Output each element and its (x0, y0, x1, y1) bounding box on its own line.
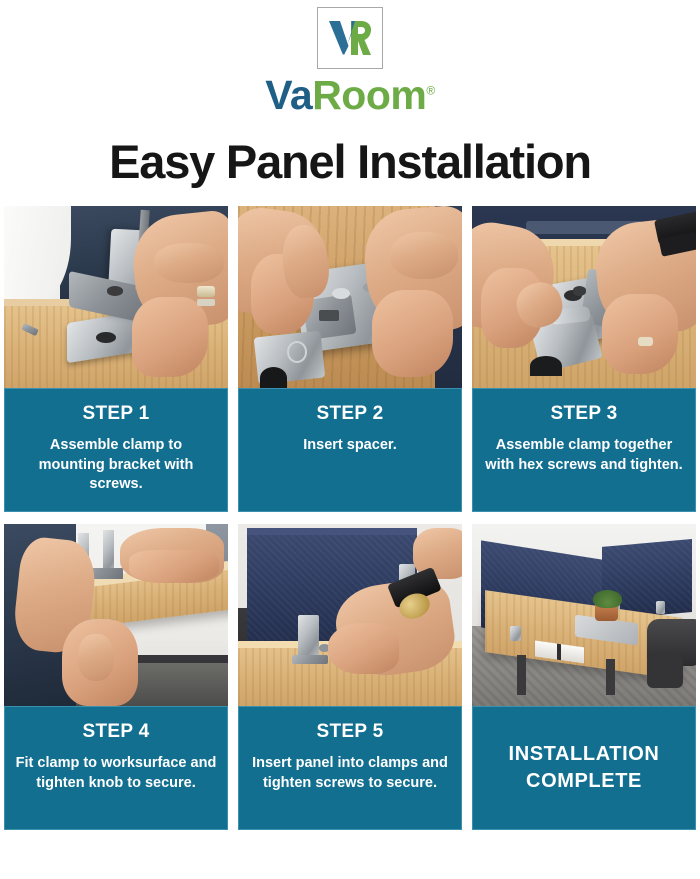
step-photo-1 (4, 206, 228, 388)
step-caption-2: STEP 2 Insert spacer. (238, 388, 462, 512)
vr-monogram-icon (317, 7, 383, 69)
step-cell-5: STEP 5 Insert panel into clamps and tigh… (238, 524, 462, 830)
wordmark-va: Va (265, 72, 312, 118)
brand-wordmark: VaRoom® (0, 75, 700, 116)
step-caption-1: STEP 1 Assemble clamp to mounting bracke… (4, 388, 228, 512)
step-header-3: STEP 3 (483, 403, 685, 425)
wordmark-room: Room (312, 72, 426, 118)
page-title: Easy Panel Installation (0, 137, 700, 186)
step-cell-4: STEP 4 Fit clamp to worksurface and tigh… (4, 524, 228, 830)
step-cell-1: STEP 1 Assemble clamp to mounting bracke… (4, 206, 228, 512)
step-cell-2: STEP 2 Insert spacer. (238, 206, 462, 512)
installation-complete-caption: INSTALLATION COMPLETE (472, 706, 696, 830)
step-caption-4: STEP 4 Fit clamp to worksurface and tigh… (4, 706, 228, 830)
registered-mark-icon: ® (426, 83, 434, 97)
step-caption-3: STEP 3 Assemble clamp together with hex … (472, 388, 696, 512)
step-caption-5: STEP 5 Insert panel into clamps and tigh… (238, 706, 462, 830)
step-photo-4 (4, 524, 228, 706)
step-cell-3: STEP 3 Assemble clamp together with hex … (472, 206, 696, 512)
step-photo-3 (472, 206, 696, 388)
installation-complete-text: INSTALLATION COMPLETE (483, 741, 685, 795)
brand-header: VaRoom® (0, 0, 700, 116)
infographic-page: VaRoom® .wordmark > span:first-child{col… (0, 0, 700, 879)
step-header-4: STEP 4 (15, 721, 217, 743)
step-cell-6: INSTALLATION COMPLETE (472, 524, 696, 830)
step-header-1: STEP 1 (15, 403, 217, 425)
step-photo-5 (238, 524, 462, 706)
step-body-4: Fit clamp to worksurface and tighten kno… (15, 754, 217, 793)
step-body-1: Assemble clamp to mounting bracket with … (15, 436, 217, 495)
step-body-2: Insert spacer. (249, 436, 451, 456)
step-header-5: STEP 5 (249, 721, 451, 743)
step-photo-2 (238, 206, 462, 388)
step-header-2: STEP 2 (249, 403, 451, 425)
step-body-5: Insert panel into clamps and tighten scr… (249, 754, 451, 793)
step-body-3: Assemble clamp together with hex screws … (483, 436, 685, 475)
steps-grid: STEP 1 Assemble clamp to mounting bracke… (0, 206, 700, 830)
step-photo-6 (472, 524, 696, 706)
